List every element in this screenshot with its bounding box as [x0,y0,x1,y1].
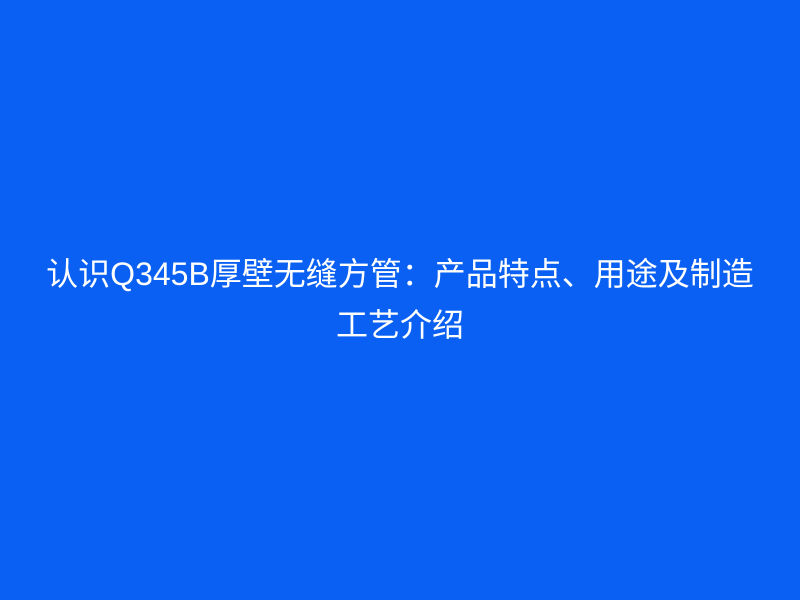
page-title: 认识Q345B厚壁无缝方管：产品特点、用途及制造工艺介绍 [44,249,756,351]
headline-block: 认识Q345B厚壁无缝方管：产品特点、用途及制造工艺介绍 [44,249,756,351]
title-card: 认识Q345B厚壁无缝方管：产品特点、用途及制造工艺介绍 [0,0,800,600]
